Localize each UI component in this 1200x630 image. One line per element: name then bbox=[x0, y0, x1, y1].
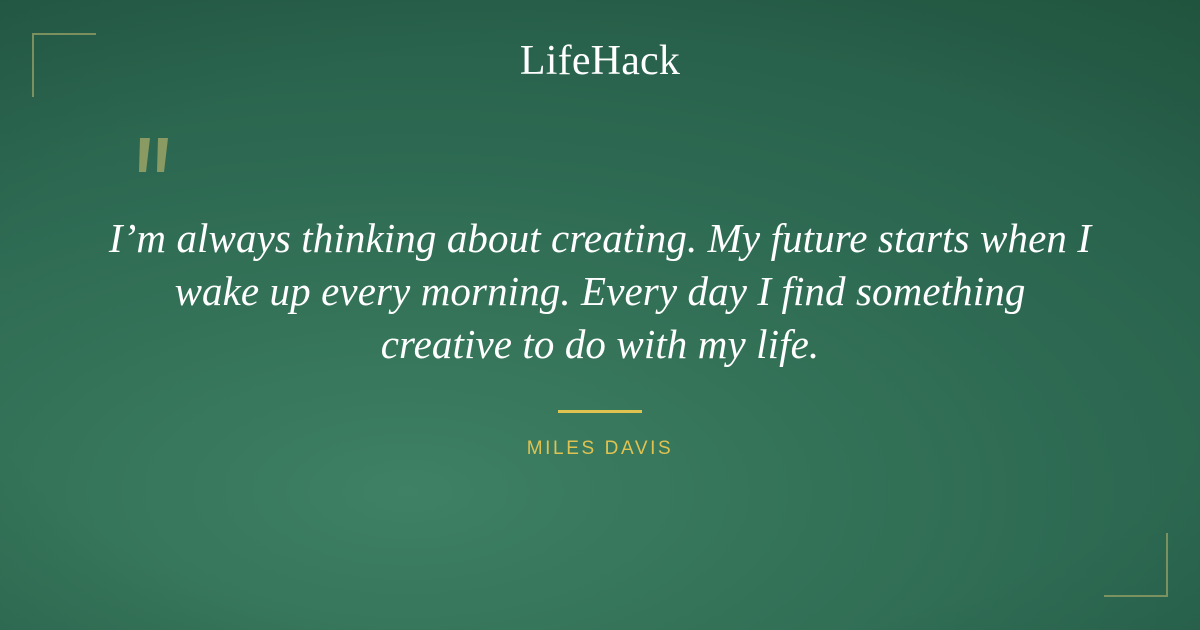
double-quote-icon bbox=[128, 134, 188, 194]
quote-line: I’m always thinking about creating. My f… bbox=[80, 212, 1120, 265]
corner-bracket-bottom-right-icon bbox=[1104, 533, 1168, 597]
quote-card: LifeHack I’m always thinking about creat… bbox=[0, 0, 1200, 630]
quote-author: MILES DAVIS bbox=[0, 438, 1200, 460]
quote-line: creative to do with my life. bbox=[80, 318, 1120, 371]
quote-line: wake up every morning. Every day I find … bbox=[80, 265, 1120, 318]
quote-text: I’m always thinking about creating. My f… bbox=[80, 212, 1120, 371]
gold-divider bbox=[558, 410, 642, 413]
brand-logo: LifeHack bbox=[0, 40, 1200, 82]
